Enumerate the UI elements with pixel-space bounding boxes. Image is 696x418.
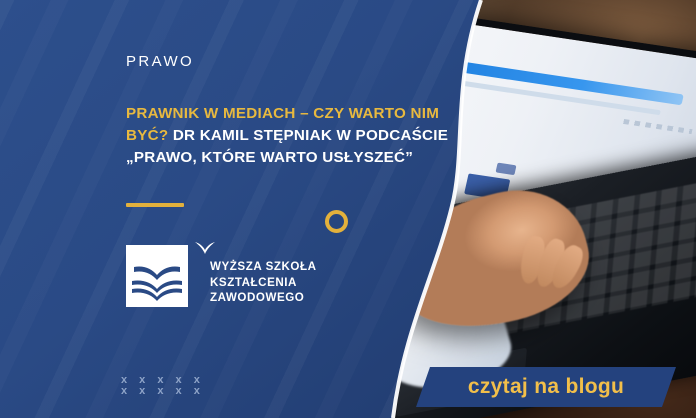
open-book-logo-icon <box>126 245 188 307</box>
panel-content: PRAWO PRAWNIK W MEDIACH – CZY WARTO NIM … <box>0 0 480 418</box>
gold-rule <box>126 203 184 207</box>
logo-wordmark: WYŻSZA SZKOŁA KSZTAŁCENIA ZAWODOWEGO <box>210 259 317 306</box>
logo-line1: WYŻSZA SZKOŁA <box>210 260 317 273</box>
x-pattern-decoration: x x x x x x x x x x <box>121 375 204 397</box>
read-on-blog-button[interactable]: czytaj na blogu <box>416 367 676 407</box>
headline: PRAWNIK W MEDIACH – CZY WARTO NIM BYĆ? D… <box>126 103 456 169</box>
cta-label: czytaj na blogu <box>468 375 624 399</box>
logo-line2: KSZTAŁCENIA <box>210 276 297 289</box>
university-logo: WYŻSZA SZKOŁA KSZTAŁCENIA ZAWODOWEGO <box>126 245 188 307</box>
gold-ring-icon <box>325 210 348 233</box>
category-label: PRAWO <box>126 53 194 70</box>
headline-line2-white: DR KAMIL STĘPNIAK W PODCAŚCIE <box>168 127 448 144</box>
x-pattern-row2: x x x x x <box>121 385 204 397</box>
headline-line3: „PRAWO, KTÓRE WARTO USŁYSZEĆ” <box>126 149 413 166</box>
headline-line2-gold: BYĆ? <box>126 127 168 144</box>
logo-line3: ZAWODOWEGO <box>210 291 304 304</box>
blog-promo-banner: PRAWO PRAWNIK W MEDIACH – CZY WARTO NIM … <box>0 0 696 418</box>
bird-icon <box>194 241 216 255</box>
headline-line1: PRAWNIK W MEDIACH – CZY WARTO NIM <box>126 105 439 122</box>
